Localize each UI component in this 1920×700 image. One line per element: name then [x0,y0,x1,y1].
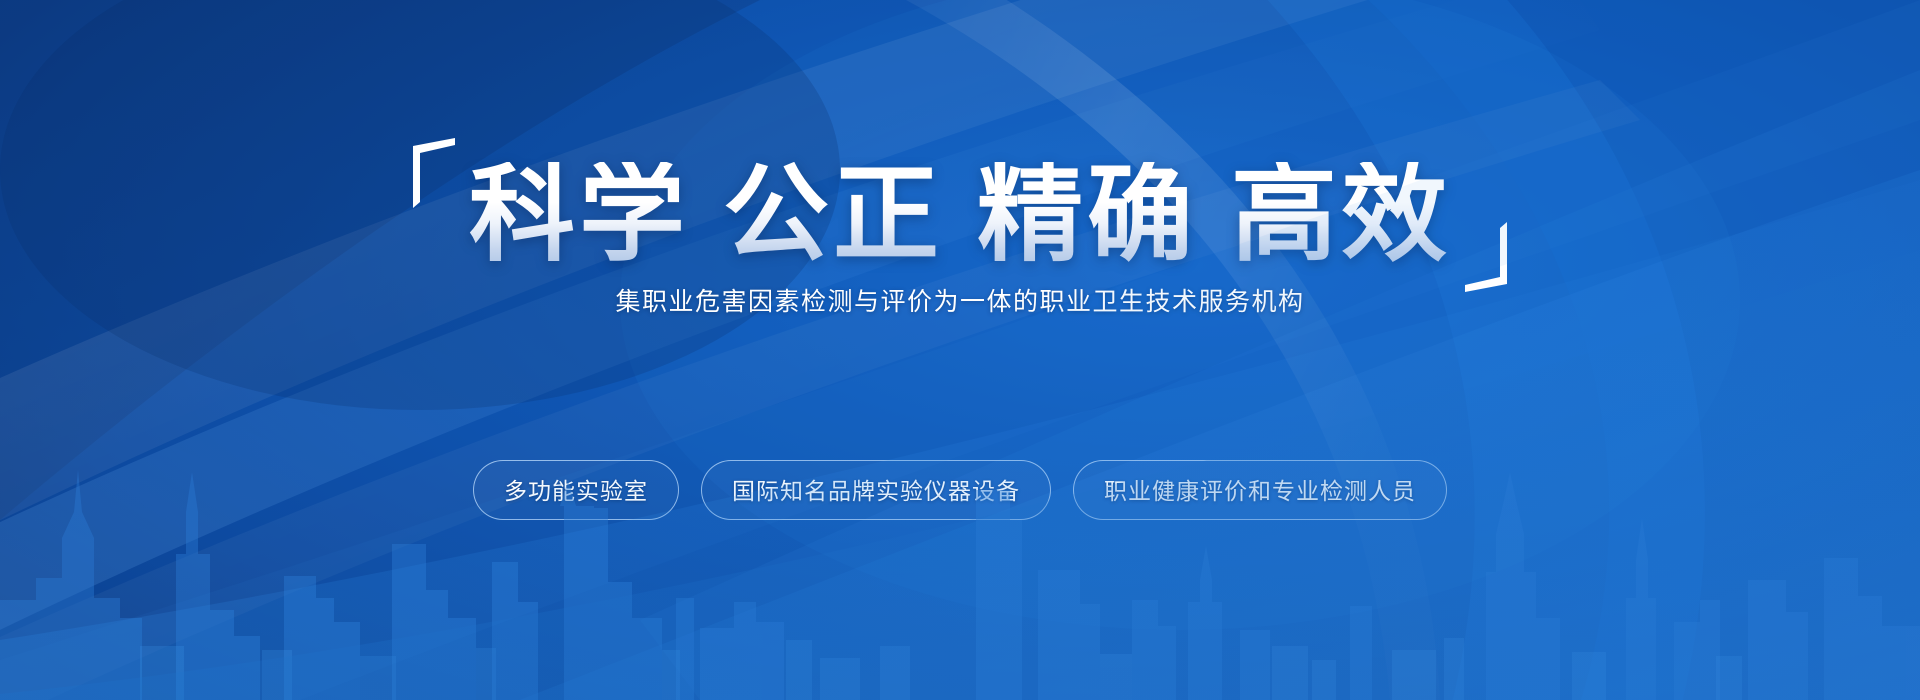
headline-row: 科学公正精确高效 [0,150,1920,280]
headline-word-1: 科学 [469,156,689,274]
background-arc-sweeps [0,0,1920,700]
feature-pill-lab[interactable]: 多功能实验室 [473,460,679,520]
headline-word-2: 公正 [723,156,943,274]
subtitle-text: 集职业危害因素检测与评价为一体的职业卫生技术服务机构 [0,282,1920,318]
feature-pill-row: 多功能实验室 国际知名品牌实验仪器设备 职业健康评价和专业检测人员 [0,460,1920,520]
headline-word-4: 高效 [1231,156,1451,274]
headline-text: 科学公正精确高效 [459,162,1461,268]
hero-banner: 科学公正精确高效 集职业危害因素检测与评价为一体的职业卫生技术服务机构 多功能实… [0,0,1920,700]
feature-pill-personnel[interactable]: 职业健康评价和专业检测人员 [1073,460,1447,520]
close-quote-bracket-icon [1465,178,1511,294]
feature-pill-equipment[interactable]: 国际知名品牌实验仪器设备 [701,460,1051,520]
headline-word-3: 精确 [977,156,1197,274]
open-quote-bracket-icon [409,136,455,252]
